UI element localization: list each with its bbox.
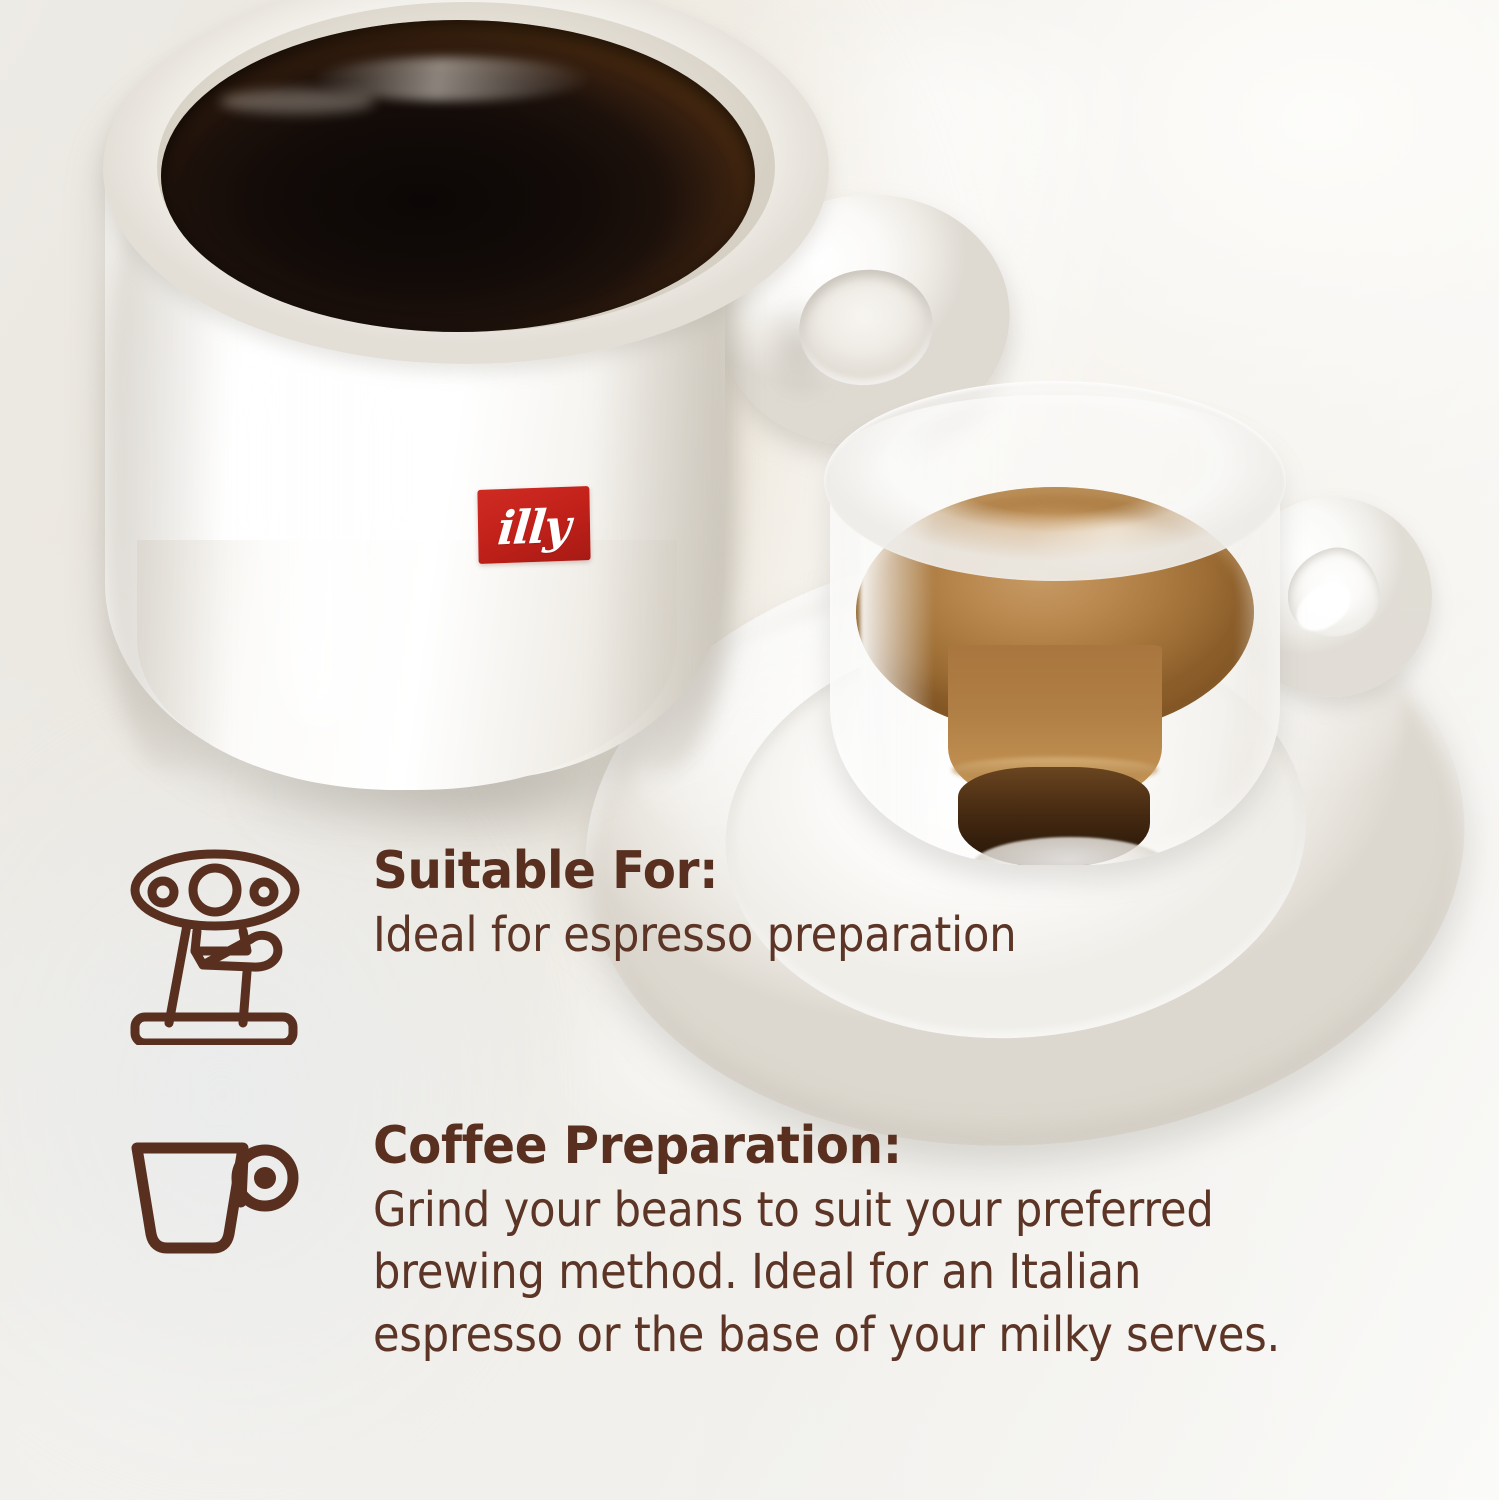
product-feature-card: illy [0, 0, 1499, 1500]
feature-body-line: Grind your beans to suit your preferred [373, 1179, 1280, 1241]
espresso-machine-icon [125, 845, 335, 1045]
coffee-cup-icon [125, 1120, 335, 1260]
feature-heading: Coffee Preparation: [373, 1120, 1310, 1173]
feature-body: Grind your beans to suit your preferred … [373, 1179, 1280, 1366]
espresso-machine-icon-svg [125, 845, 305, 1045]
illy-mug: illy [95, 0, 745, 790]
feature-item-coffee-preparation: Coffee Preparation: Grind your beans to … [125, 1120, 1381, 1366]
illy-logo-text: illy [496, 503, 571, 552]
feature-body-line: espresso or the base of your milky serve… [373, 1304, 1280, 1366]
illy-logo: illy [477, 486, 590, 564]
black-coffee-surface [161, 20, 755, 332]
feature-text-block: Suitable For: Ideal for espresso prepara… [335, 845, 1088, 966]
feature-body-line: Ideal for espresso preparation [373, 904, 1016, 966]
feature-heading: Suitable For: [373, 845, 1038, 898]
feature-text-block: Coffee Preparation: Grind your beans to … [335, 1120, 1381, 1366]
feature-body-line: brewing method. Ideal for an Italian [373, 1241, 1280, 1303]
espresso-glass-cup [800, 385, 1420, 885]
coffee-cup-icon-svg [125, 1130, 305, 1260]
glass-cup-rim [824, 381, 1286, 581]
feature-item-suitable-for: Suitable For: Ideal for espresso prepara… [125, 845, 1088, 1045]
coffee-highlight-secondary [220, 89, 374, 114]
feature-body: Ideal for espresso preparation [373, 904, 1016, 966]
feature-list: Suitable For: Ideal for espresso prepara… [0, 820, 1499, 1460]
